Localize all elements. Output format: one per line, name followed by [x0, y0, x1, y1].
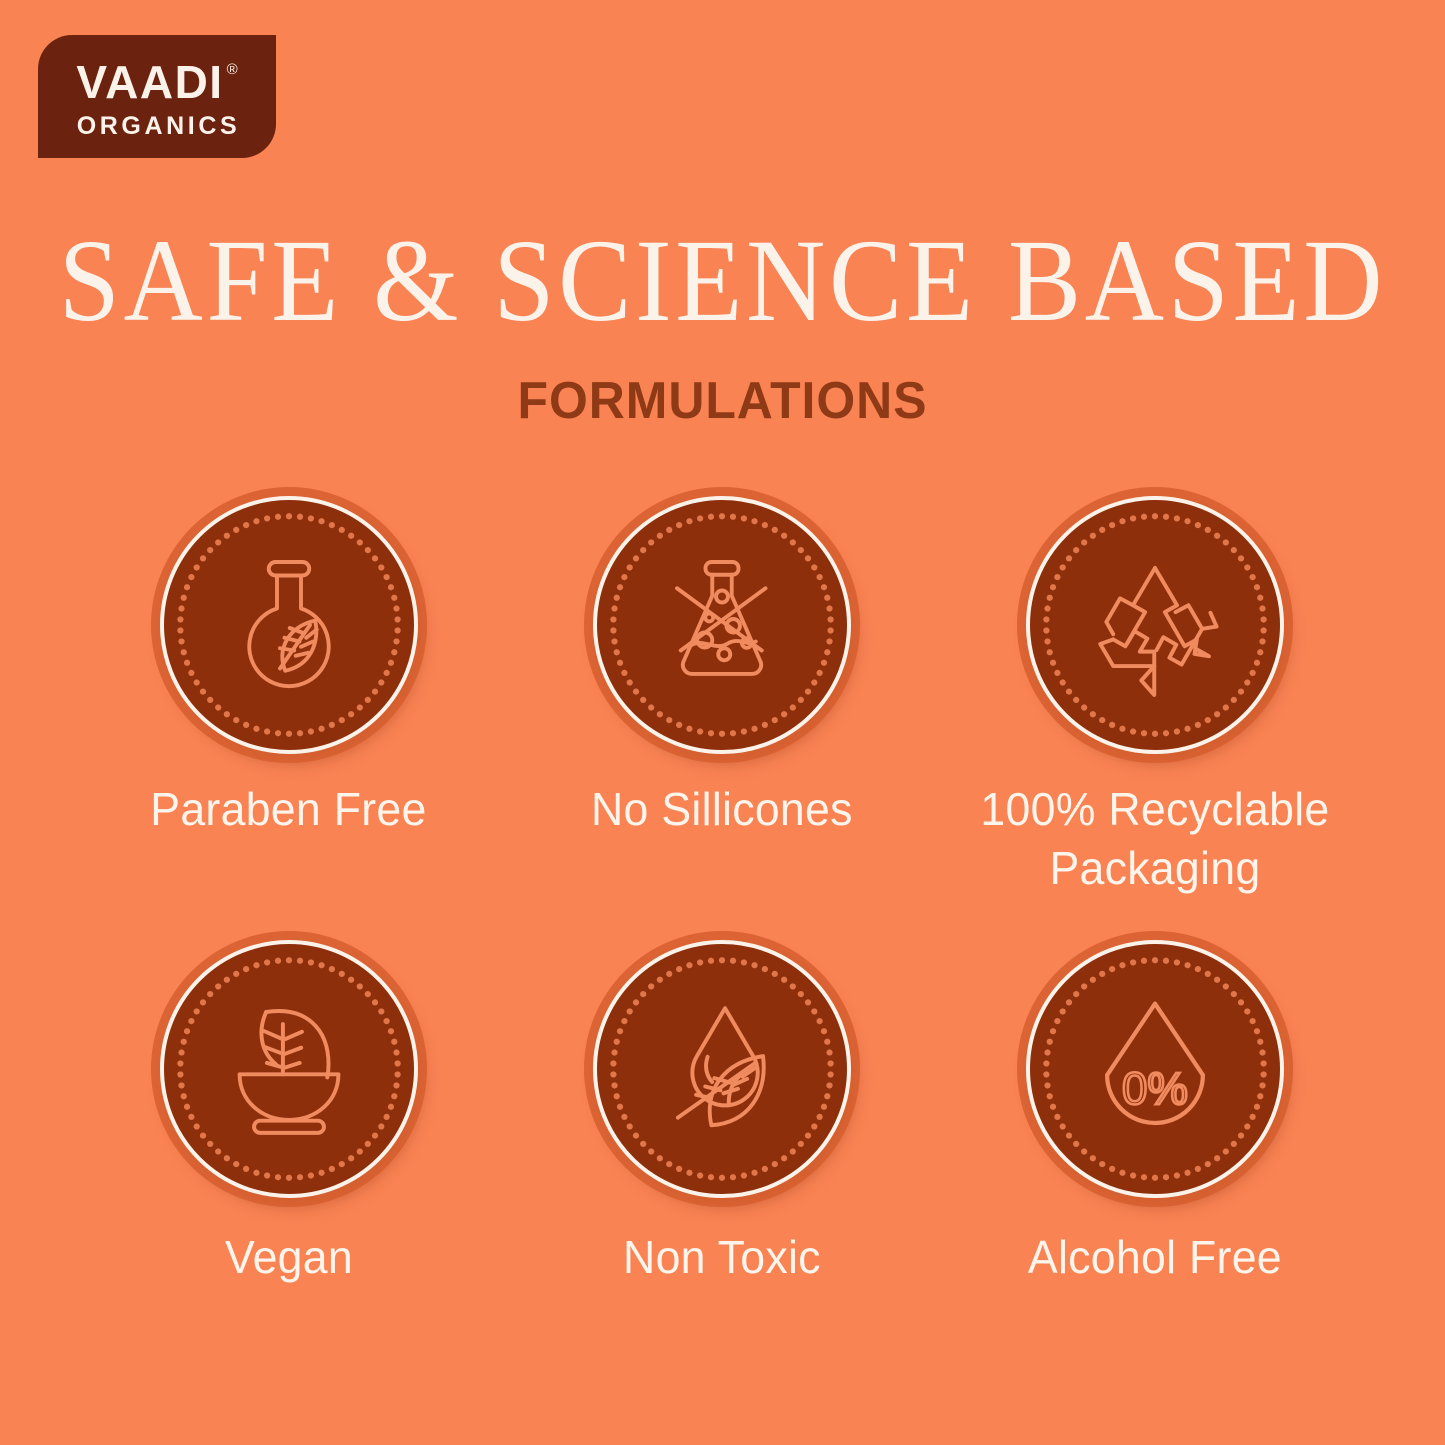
brand-tagline: ORGANICS	[77, 114, 241, 139]
benefit-label: No Sillicones	[591, 780, 853, 839]
flask-crossed-out-icon	[647, 550, 797, 700]
recycle-icon	[1079, 549, 1231, 701]
brand-logo-wordmark: VAADI ®	[76, 59, 237, 105]
benefit-label: Non Toxic	[623, 1228, 821, 1287]
brand-logo: VAADI ® ORGANICS	[38, 35, 276, 158]
benefit-item-recyclable: 100% Recyclable Packaging	[939, 496, 1372, 898]
badge-circle	[593, 496, 851, 754]
flask-leaf-icon	[214, 550, 364, 700]
badge-circle	[160, 940, 418, 1198]
benefit-badge-grid: Paraben Free No Sillicones	[72, 496, 1372, 1287]
brand-name: VAADI	[76, 59, 223, 105]
benefit-item-no-sillicones: No Sillicones	[505, 496, 938, 898]
benefit-label: Vegan	[225, 1228, 353, 1287]
badge-circle	[1026, 496, 1284, 754]
benefit-item-alcohol-free: 0% Alcohol Free	[939, 940, 1372, 1287]
benefit-label: Alcohol Free	[1028, 1228, 1282, 1287]
registered-trademark-icon: ®	[227, 62, 238, 77]
benefit-item-non-toxic: Non Toxic	[505, 940, 938, 1287]
bowl-leaf-icon	[213, 993, 365, 1145]
icon-zero-percent-text: 0%	[1122, 1063, 1188, 1114]
page-subheadline: FORMULATIONS	[29, 375, 1416, 427]
badge-circle: 0%	[1026, 940, 1284, 1198]
droplet-leaf-icon	[646, 993, 798, 1145]
benefit-label: 100% Recyclable Packaging	[981, 780, 1330, 898]
benefit-label: Paraben Free	[150, 780, 426, 839]
benefit-item-vegan: Vegan	[72, 940, 505, 1287]
badge-circle	[593, 940, 851, 1198]
page-headline: SAFE & SCIENCE BASED	[51, 222, 1395, 340]
droplet-zero-percent-icon: 0%	[1079, 993, 1231, 1145]
benefit-item-paraben-free: Paraben Free	[72, 496, 505, 898]
badge-circle	[160, 496, 418, 754]
